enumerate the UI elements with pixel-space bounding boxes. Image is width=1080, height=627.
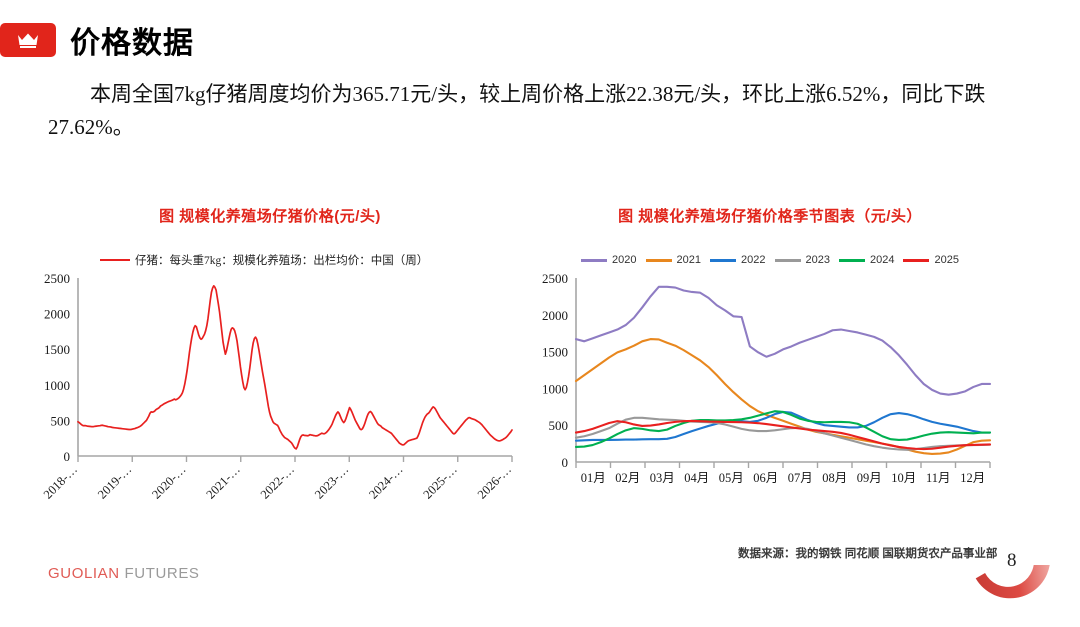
y-axis-tick: 2500 bbox=[44, 271, 70, 286]
chart-title-history: 图 规模化养殖场仔猪价格(元/头) bbox=[20, 205, 520, 226]
y-axis-tick: 1500 bbox=[542, 345, 568, 360]
legend-item: 2020 bbox=[581, 254, 636, 266]
legend-item: 2025 bbox=[903, 254, 958, 266]
legend-item: 仔猪：每头重7kg：规模化养殖场：出栏均价：中国（周） bbox=[100, 252, 428, 268]
series-line-2020 bbox=[576, 287, 990, 395]
legend-label: 2020 bbox=[612, 254, 636, 266]
chart-legend-history: 仔猪：每头重7kg：规模化养殖场：出栏均价：中国（周） bbox=[20, 252, 520, 268]
x-axis-tick: 2026-… bbox=[475, 462, 514, 501]
y-axis-tick: 1000 bbox=[542, 381, 568, 396]
legend-swatch bbox=[903, 259, 929, 262]
legend-swatch bbox=[710, 259, 736, 262]
x-axis-tick: 02月 bbox=[615, 471, 640, 485]
plot-area-seasonal: 0500100015002000250001月02月03月04月05月06月07… bbox=[520, 266, 1020, 516]
legend-swatch bbox=[646, 259, 672, 262]
x-axis-tick: 2024-… bbox=[366, 462, 405, 501]
x-axis-tick: 2021-… bbox=[204, 462, 243, 501]
line-chart-seasonal: 0500100015002000250001月02月03月04月05月06月07… bbox=[520, 266, 1020, 516]
chart-panel-history: 图 规模化养殖场仔猪价格(元/头) 仔猪：每头重7kg：规模化养殖场：出栏均价：… bbox=[20, 205, 520, 535]
y-axis-tick: 1500 bbox=[44, 342, 70, 357]
x-axis-tick: 09月 bbox=[857, 471, 882, 485]
legend-label: 2025 bbox=[934, 254, 958, 266]
series-line bbox=[78, 286, 512, 449]
corner-decoration bbox=[975, 565, 1080, 627]
legend-swatch bbox=[100, 259, 130, 262]
legend-item: 2022 bbox=[710, 254, 765, 266]
x-axis-tick: 12月 bbox=[960, 471, 985, 485]
logo-secondary: FUTURES bbox=[125, 565, 200, 582]
y-axis-tick: 2500 bbox=[542, 271, 568, 286]
y-axis-tick: 500 bbox=[549, 418, 569, 433]
chart-panel-seasonal: 图 规模化养殖场仔猪价格季节图表（元/头） 202020212022202320… bbox=[520, 205, 1020, 535]
page-title: 价格数据 bbox=[70, 18, 194, 62]
legend-label: 2021 bbox=[677, 254, 701, 266]
series-line-2021 bbox=[576, 339, 990, 454]
x-axis-tick: 11月 bbox=[926, 471, 951, 485]
x-axis-tick: 2025-… bbox=[421, 462, 460, 501]
legend-label: 2023 bbox=[806, 254, 830, 266]
brand-logo: GUOLIAN FUTURES bbox=[48, 565, 200, 582]
legend-swatch bbox=[839, 259, 865, 262]
x-axis-tick: 2020-… bbox=[149, 462, 188, 501]
legend-swatch bbox=[581, 259, 607, 262]
x-axis-tick: 2018-… bbox=[41, 462, 80, 501]
x-axis-tick: 04月 bbox=[684, 471, 709, 485]
legend-label: 2024 bbox=[870, 254, 894, 266]
plot-area-history: 050010001500200025002018-…2019-…2020-…20… bbox=[20, 268, 520, 518]
chart-legend-seasonal: 202020212022202320242025 bbox=[520, 254, 1020, 266]
x-axis-tick: 2019-… bbox=[95, 462, 134, 501]
page-header: 价格数据 bbox=[0, 18, 194, 62]
y-axis-tick: 500 bbox=[51, 413, 71, 428]
y-axis-tick: 1000 bbox=[44, 378, 70, 393]
x-axis-tick: 2022-… bbox=[258, 462, 297, 501]
x-axis-tick: 10月 bbox=[891, 471, 916, 485]
legend-label: 仔猪：每头重7kg：规模化养殖场：出栏均价：中国（周） bbox=[135, 252, 428, 268]
legend-item: 2024 bbox=[839, 254, 894, 266]
crown-badge bbox=[0, 23, 56, 57]
line-chart-history: 050010001500200025002018-…2019-…2020-…20… bbox=[20, 268, 520, 518]
logo-primary: GUOLIAN bbox=[48, 565, 120, 582]
x-axis-tick: 06月 bbox=[753, 471, 778, 485]
summary-paragraph: 本周全国7kg仔猪周度均价为365.71元/头，较上周价格上涨22.38元/头，… bbox=[48, 78, 1038, 143]
legend-item: 2023 bbox=[775, 254, 830, 266]
x-axis-tick: 05月 bbox=[719, 471, 744, 485]
legend-swatch bbox=[775, 259, 801, 262]
x-axis-tick: 08月 bbox=[822, 471, 847, 485]
x-axis-tick: 03月 bbox=[650, 471, 675, 485]
x-axis-tick: 07月 bbox=[788, 471, 813, 485]
y-axis-tick: 2000 bbox=[44, 307, 70, 322]
legend-label: 2022 bbox=[741, 254, 765, 266]
source-note: 数据来源：我的钢铁 同花顺 国联期货农产品事业部 bbox=[738, 545, 997, 561]
legend-item: 2021 bbox=[646, 254, 701, 266]
y-axis-tick: 0 bbox=[562, 455, 569, 470]
x-axis-tick: 2023-… bbox=[312, 462, 351, 501]
y-axis-tick: 0 bbox=[64, 449, 71, 464]
y-axis-tick: 2000 bbox=[542, 308, 568, 323]
x-axis-tick: 01月 bbox=[581, 471, 606, 485]
chart-title-seasonal: 图 规模化养殖场仔猪价格季节图表（元/头） bbox=[520, 205, 1020, 226]
crown-icon bbox=[15, 31, 41, 49]
